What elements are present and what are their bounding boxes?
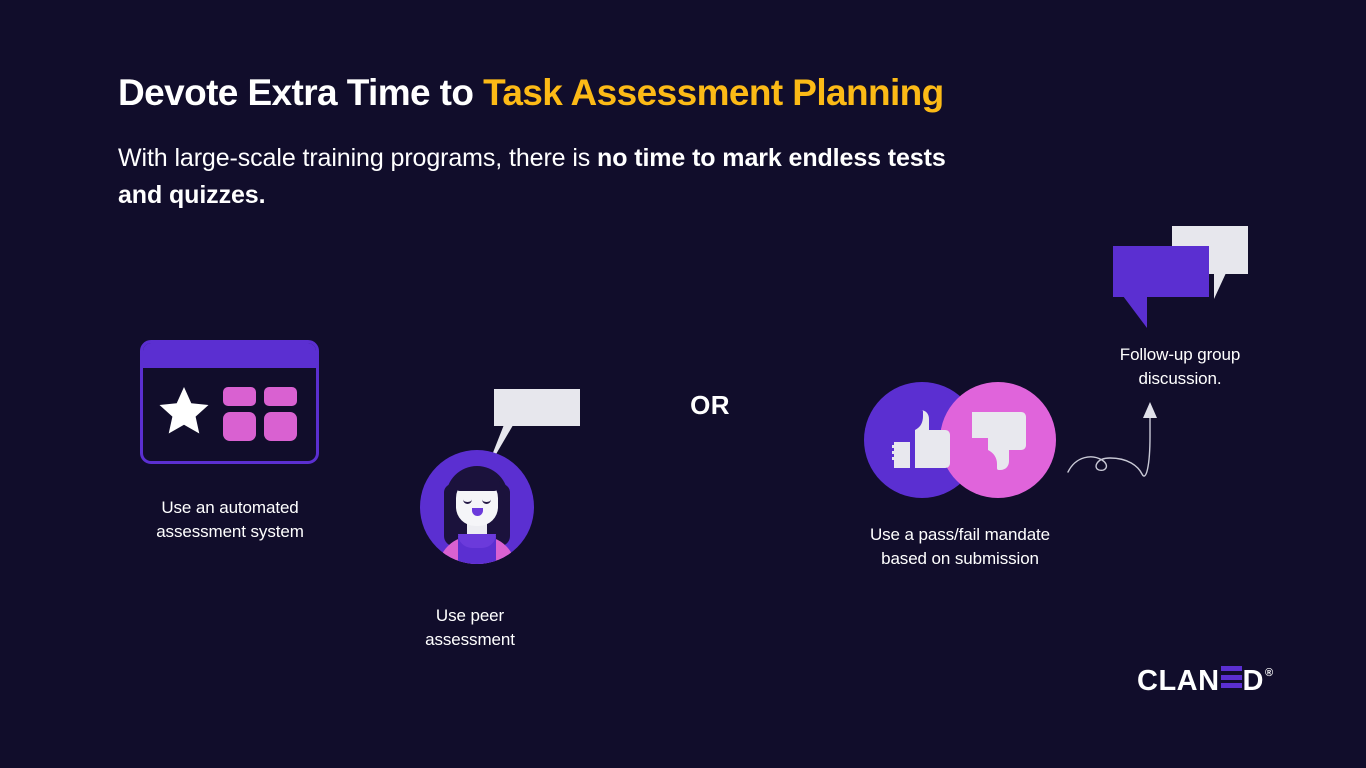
avatar bbox=[420, 450, 534, 564]
caption-line-2: based on submission bbox=[820, 547, 1100, 571]
avatar-fringe bbox=[454, 472, 500, 491]
subtitle-lead: With large-scale training programs, ther… bbox=[118, 144, 597, 172]
caption-follow-up-discussion: Follow-up group discussion. bbox=[1080, 343, 1280, 391]
star-icon bbox=[159, 386, 209, 434]
page-title: Devote Extra Time to Task Assessment Pla… bbox=[118, 69, 944, 117]
title-highlight: Task Assessment Planning bbox=[483, 72, 944, 113]
caption-line-2: assessment bbox=[380, 628, 560, 652]
thumbs-down-icon bbox=[966, 408, 1030, 472]
thumbs-up-down-icon bbox=[864, 382, 1056, 498]
caption-automated-assessment: Use an automated assessment system bbox=[120, 496, 340, 544]
thumbs-up-icon bbox=[890, 408, 954, 472]
caption-line-2: discussion. bbox=[1080, 367, 1280, 391]
caption-line-1: Use peer bbox=[380, 604, 560, 628]
tile-top-left bbox=[223, 387, 256, 406]
caption-peer-assessment: Use peer assessment bbox=[380, 604, 560, 652]
curly-arrow-icon bbox=[1066, 396, 1186, 482]
person-speech-bubble-icon bbox=[420, 450, 534, 564]
caption-line-1: Use an automated bbox=[120, 496, 340, 520]
or-separator-label: OR bbox=[663, 390, 757, 421]
chat-bubbles-icon bbox=[1113, 226, 1253, 334]
chat-bubble-back-tail bbox=[1214, 273, 1226, 299]
caption-line-1: Follow-up group bbox=[1080, 343, 1280, 367]
registered-trademark-mark: ® bbox=[1265, 667, 1273, 679]
tile-bottom-left bbox=[223, 412, 256, 441]
caption-pass-fail: Use a pass/fail mandate based on submiss… bbox=[820, 523, 1100, 571]
logo-text-after: D bbox=[1243, 666, 1264, 696]
claned-logo: CLAN D ® bbox=[1137, 666, 1273, 696]
page-subtitle: With large-scale training programs, ther… bbox=[118, 140, 948, 214]
window-titlebar bbox=[142, 342, 317, 368]
title-plain: Devote Extra Time to bbox=[118, 72, 483, 113]
logo-e-bars-icon bbox=[1221, 666, 1242, 688]
tile-top-right bbox=[264, 387, 297, 406]
chat-bubble-front-tail bbox=[1123, 296, 1147, 328]
slide-canvas: Devote Extra Time to Task Assessment Pla… bbox=[0, 0, 1366, 768]
chat-bubble-front bbox=[1113, 246, 1209, 297]
caption-line-1: Use a pass/fail mandate bbox=[820, 523, 1100, 547]
logo-text-before: CLAN bbox=[1137, 666, 1220, 696]
tile-bottom-right bbox=[264, 412, 297, 441]
caption-line-2: assessment system bbox=[120, 520, 340, 544]
assessment-window-icon bbox=[140, 340, 319, 464]
